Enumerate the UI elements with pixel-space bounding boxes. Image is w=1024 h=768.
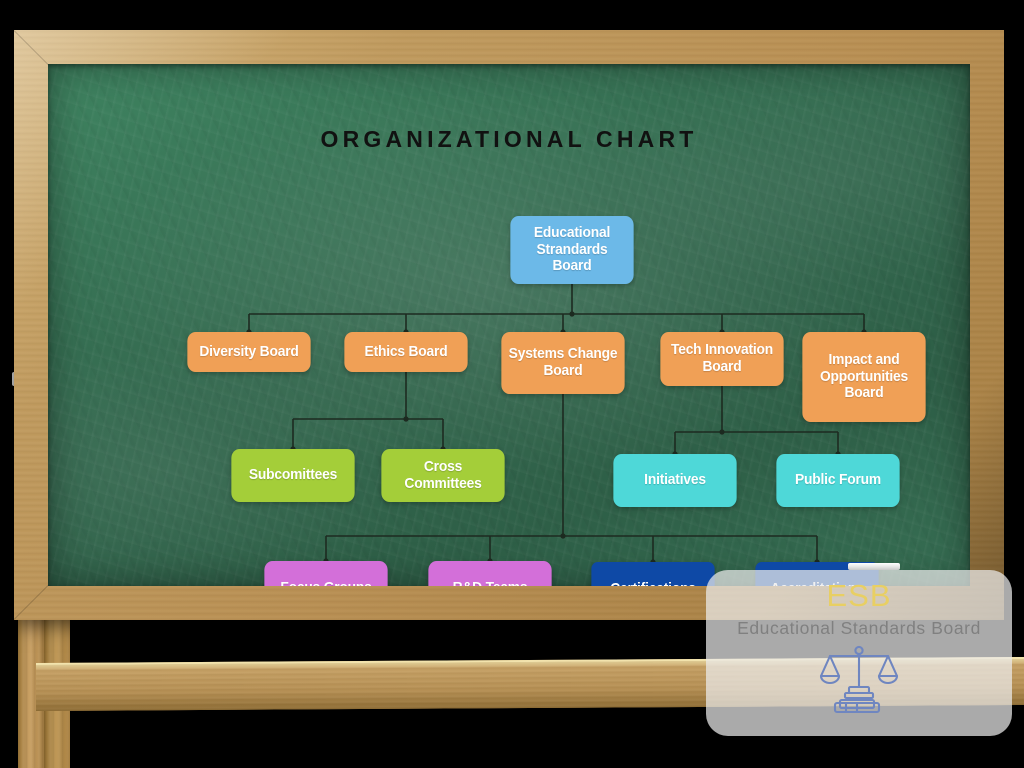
watermark-logo: ESB Educational Standards Board	[706, 570, 1012, 736]
org-node-diversity[interactable]: Diversity Board	[187, 332, 310, 372]
org-node-label: EducationalStrandards Board	[517, 225, 627, 275]
org-node-label: Tech InnovationBoard	[671, 342, 773, 376]
chalkboard-frame: ORGANIZATIONAL CHART EducationalStrandar…	[14, 30, 1004, 620]
org-node-systems[interactable]: Systems ChangeBoard	[501, 332, 624, 394]
scales-of-justice-on-books-icon	[816, 643, 902, 722]
org-node-label: Ethics Board	[365, 344, 448, 361]
org-node-initiatives[interactable]: Initiatives	[613, 454, 736, 507]
org-node-root[interactable]: EducationalStrandards Board	[510, 216, 633, 284]
chalkboard-surface: ORGANIZATIONAL CHART EducationalStrandar…	[48, 64, 970, 586]
frame-miter-top-right	[1004, 0, 1024, 31]
org-node-ethics[interactable]: Ethics Board	[344, 332, 467, 372]
org-node-label: Systems ChangeBoard	[509, 346, 618, 380]
org-node-label: R&D Teams	[453, 580, 528, 586]
org-node-crosscom[interactable]: Cross Committees	[381, 449, 504, 502]
watermark-acronym: ESB	[826, 580, 891, 611]
screenshot-root: ORGANIZATIONAL CHART EducationalStrandar…	[0, 0, 1024, 768]
org-node-label: Initiatives	[644, 472, 706, 489]
org-node-label: Public Forum	[795, 472, 881, 489]
org-node-label: Focus Groups	[280, 580, 371, 586]
org-node-label: Certifications	[610, 581, 696, 586]
watermark-org-name: Educational Standards Board	[737, 618, 981, 639]
page-title: ORGANIZATIONAL CHART	[48, 126, 970, 153]
org-node-focus[interactable]: Focus Groups	[264, 561, 387, 586]
org-node-forum[interactable]: Public Forum	[776, 454, 899, 507]
org-node-label: Cross Committees	[388, 459, 498, 493]
org-node-label: Subcomittees	[249, 467, 337, 484]
org-node-impact[interactable]: Impact andOpportunitiesBoard	[802, 332, 925, 422]
org-node-subcom[interactable]: Subcomittees	[231, 449, 354, 502]
chalk-piece	[848, 563, 900, 570]
org-node-certs[interactable]: Certifications	[591, 562, 714, 586]
org-node-tech[interactable]: Tech InnovationBoard	[660, 332, 783, 386]
org-node-rnd[interactable]: R&D Teams	[428, 561, 551, 586]
org-node-label: Diversity Board	[199, 344, 298, 361]
org-node-label: Impact andOpportunitiesBoard	[820, 352, 908, 402]
